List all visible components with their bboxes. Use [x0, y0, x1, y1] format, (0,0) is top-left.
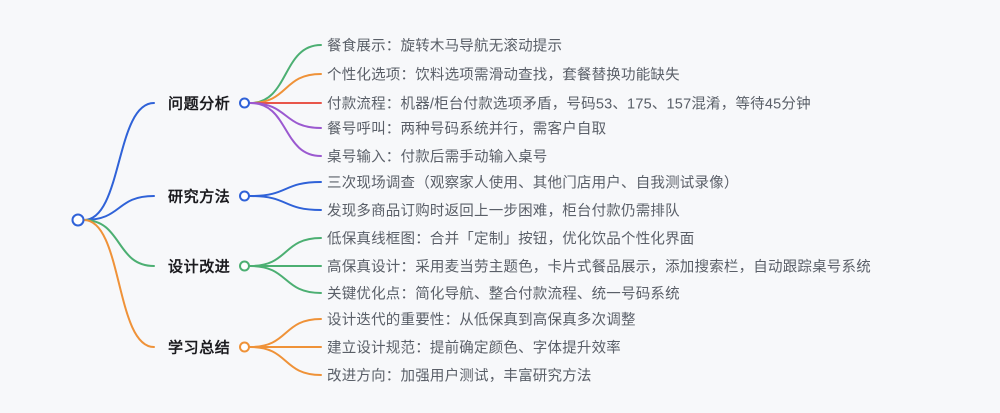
root-node-dot[interactable]: [72, 214, 85, 227]
leaf-node[interactable]: 高保真设计：采用麦当劳主题色，卡片式餐品展示，添加搜索栏，自动跟踪桌号系统: [327, 256, 871, 277]
leaf-node[interactable]: 桌号输入：付款后需手动输入桌号: [327, 146, 548, 167]
leaf-node[interactable]: 付款流程：机器/柜台付款选项矛盾，号码53、175、157混淆，等待45分钟: [327, 93, 811, 114]
edge-design-improvement-leaf-2: [250, 266, 321, 293]
branch-node-problem-analysis[interactable]: 问题分析: [168, 93, 250, 114]
leaf-node[interactable]: 餐食展示：旋转木马导航无滚动提示: [327, 35, 562, 56]
leaf-node[interactable]: 三次现场调查（观察家人使用、其他门店用户、自我测试录像）: [327, 172, 739, 193]
edge-root-to-research-method: [84, 196, 154, 220]
edge-problem-analysis-leaf-1: [250, 74, 321, 103]
leaf-node[interactable]: 个性化选项：饮料选项需滑动查找，套餐替换功能缺失: [327, 64, 680, 85]
edge-problem-analysis-leaf-4: [250, 103, 321, 156]
leaf-node[interactable]: 改进方向：加强用户测试，丰富研究方法: [327, 365, 592, 386]
branch-node-research-method[interactable]: 研究方法: [168, 186, 250, 207]
leaf-node[interactable]: 发现多商品订购时返回上一步困难，柜台付款仍需排队: [327, 200, 680, 221]
leaf-node[interactable]: 低保真线框图：合并「定制」按钮，优化饮品个性化界面: [327, 228, 695, 249]
branch-node-dot-design-improvement[interactable]: [239, 261, 250, 272]
branch-label-learning-summary: 学习总结: [168, 337, 239, 358]
leaf-node[interactable]: 建立设计规范：提前确定颜色、字体提升效率: [327, 337, 621, 358]
branch-node-dot-research-method[interactable]: [239, 191, 250, 202]
branch-label-problem-analysis: 问题分析: [168, 93, 239, 114]
edge-learning-summary-leaf-0: [250, 319, 321, 347]
leaf-node[interactable]: 关键优化点：简化导航、整合付款流程、统一号码系统: [327, 283, 680, 304]
edge-root-to-learning-summary: [84, 220, 154, 347]
branch-node-dot-learning-summary[interactable]: [239, 342, 250, 353]
branch-node-design-improvement[interactable]: 设计改进: [168, 256, 250, 277]
branch-node-learning-summary[interactable]: 学习总结: [168, 337, 250, 358]
edge-design-improvement-leaf-0: [250, 238, 321, 266]
branch-label-research-method: 研究方法: [168, 186, 239, 207]
edge-root-to-problem-analysis: [84, 103, 154, 220]
branch-label-design-improvement: 设计改进: [168, 256, 239, 277]
edge-problem-analysis-leaf-0: [250, 45, 321, 103]
mindmap-canvas: 问题分析餐食展示：旋转木马导航无滚动提示个性化选项：饮料选项需滑动查找，套餐替换…: [0, 0, 1000, 413]
edge-learning-summary-leaf-2: [250, 347, 321, 375]
edge-problem-analysis-leaf-3: [250, 103, 321, 128]
edge-research-method-leaf-0: [250, 182, 321, 196]
edge-research-method-leaf-1: [250, 196, 321, 210]
leaf-node[interactable]: 餐号呼叫：两种号码系统并行，需客户自取: [327, 118, 606, 139]
leaf-node[interactable]: 设计迭代的重要性：从低保真到高保真多次调整: [327, 309, 636, 330]
branch-node-dot-problem-analysis[interactable]: [239, 98, 250, 109]
edge-root-to-design-improvement: [84, 220, 154, 266]
